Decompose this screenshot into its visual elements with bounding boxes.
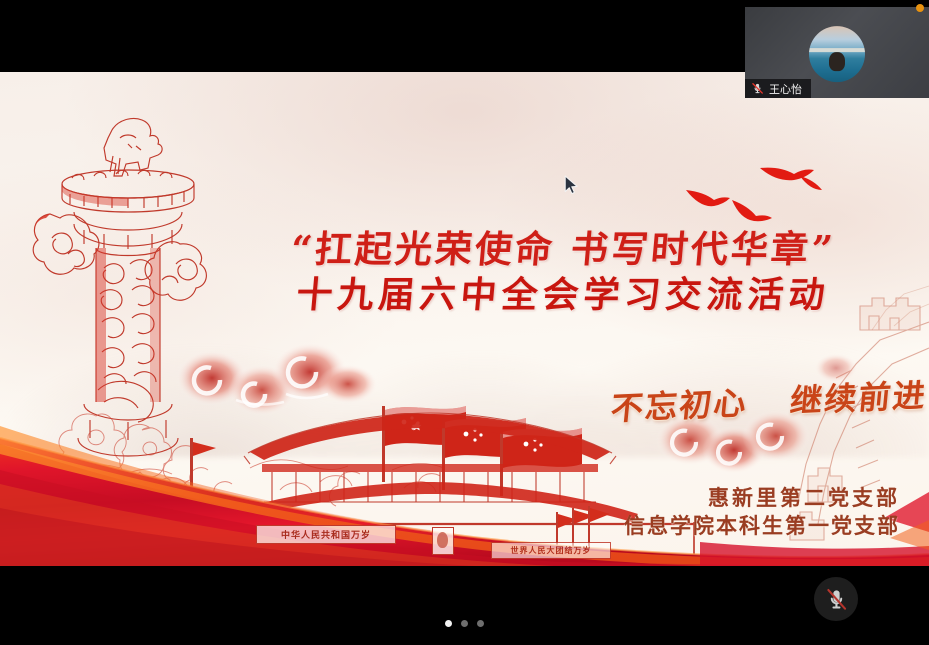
- participant-name-tag: 王心怡: [745, 79, 811, 98]
- pagination-dot-2[interactable]: [461, 620, 468, 627]
- presentation-slide[interactable]: 中华人民共和国万岁 世界人民大团结万岁: [0, 72, 929, 566]
- recording-indicator-dot: [916, 4, 924, 12]
- pagination-dot-1[interactable]: [445, 620, 452, 627]
- pagination-dot-3[interactable]: [477, 620, 484, 627]
- self-view-video-tile[interactable]: 王心怡: [745, 7, 929, 98]
- slide-pagination[interactable]: [0, 620, 929, 627]
- microphone-muted-icon: [824, 587, 849, 612]
- bottom-control-bar: [0, 566, 929, 645]
- red-corner-wedge-decor: [0, 72, 929, 566]
- microphone-muted-icon: [751, 82, 764, 95]
- gate-portrait-icon: [432, 527, 454, 555]
- avatar: [809, 26, 865, 82]
- mic-toggle-button[interactable]: [814, 577, 858, 621]
- screen-share-viewer: 中华人民共和国万岁 世界人民大团结万岁: [0, 0, 929, 645]
- participant-name: 王心怡: [769, 81, 802, 97]
